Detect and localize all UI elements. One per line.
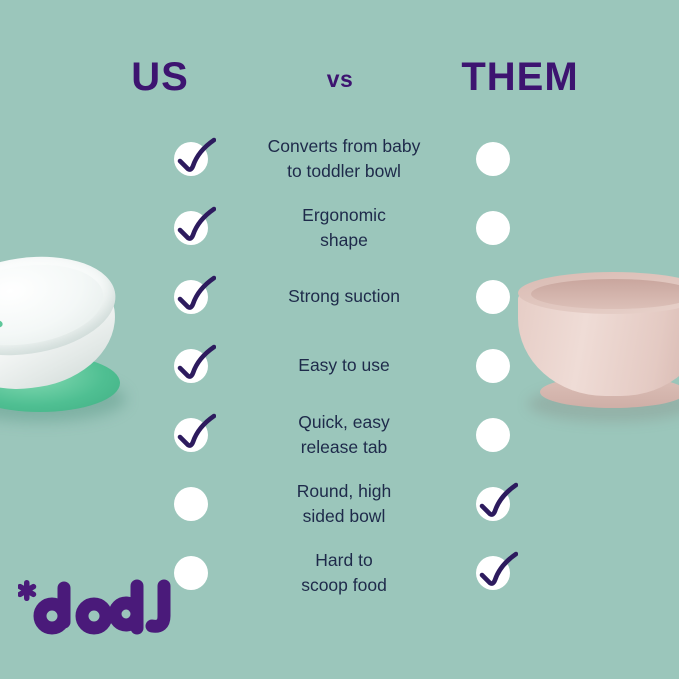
heading-us: US (100, 55, 220, 100)
feature-label: Easy to use (216, 353, 472, 377)
comparison-row: Easy to use (170, 331, 518, 400)
checkbox-them-row-5[interactable] (472, 481, 518, 527)
checkbox-us-row-3[interactable] (170, 343, 216, 389)
check-icon (170, 412, 216, 458)
comparison-table: Converts from baby to toddler bowlErgono… (170, 124, 518, 607)
checkbox-us-row-5[interactable] (170, 481, 216, 527)
comparison-row: Round, high sided bowl (170, 469, 518, 538)
logo-asterisk-icon (18, 580, 37, 601)
feature-label: Strong suction (216, 284, 472, 308)
checkbox-us-row-4[interactable] (170, 412, 216, 458)
checkbox-them-row-6[interactable] (472, 550, 518, 596)
feature-label: Quick, easy release tab (216, 410, 472, 458)
heading-vs: vs (300, 66, 380, 93)
check-icon (170, 274, 216, 320)
check-icon (170, 343, 216, 389)
feature-label: Round, high sided bowl (216, 479, 472, 527)
checkbox-them-row-1[interactable] (472, 205, 518, 251)
checkbox-them-row-4[interactable] (472, 412, 518, 458)
checkbox-circle (476, 211, 510, 245)
checkbox-circle (174, 487, 208, 521)
feature-label: Converts from baby to toddler bowl (216, 134, 472, 182)
comparison-row: Converts from baby to toddler bowl (170, 124, 518, 193)
checkbox-circle (476, 142, 510, 176)
check-icon (170, 136, 216, 182)
comparison-row: Quick, easy release tab (170, 400, 518, 469)
checkbox-circle (476, 418, 510, 452)
check-icon (472, 481, 518, 527)
comparison-row: Hard to scoop food (170, 538, 518, 607)
checkbox-circle (476, 349, 510, 383)
checkbox-us-row-1[interactable] (170, 205, 216, 251)
check-icon (472, 550, 518, 596)
product-image-competitor-bowl (518, 268, 679, 433)
checkbox-circle (476, 280, 510, 314)
feature-label: Hard to scoop food (216, 548, 472, 596)
checkbox-them-row-3[interactable] (472, 343, 518, 389)
comparison-row: Strong suction (170, 262, 518, 331)
checkbox-them-row-2[interactable] (472, 274, 518, 320)
product-image-doddl-bowl (0, 258, 148, 448)
checkbox-us-row-2[interactable] (170, 274, 216, 320)
comparison-row: Ergonomic shape (170, 193, 518, 262)
heading-them: THEM (440, 55, 600, 100)
doddl-logo (18, 566, 188, 646)
headings-row: US vs THEM (0, 0, 679, 120)
checkbox-them-row-0[interactable] (472, 136, 518, 182)
feature-label: Ergonomic shape (216, 203, 472, 251)
checkbox-us-row-0[interactable] (170, 136, 216, 182)
check-icon (170, 205, 216, 251)
